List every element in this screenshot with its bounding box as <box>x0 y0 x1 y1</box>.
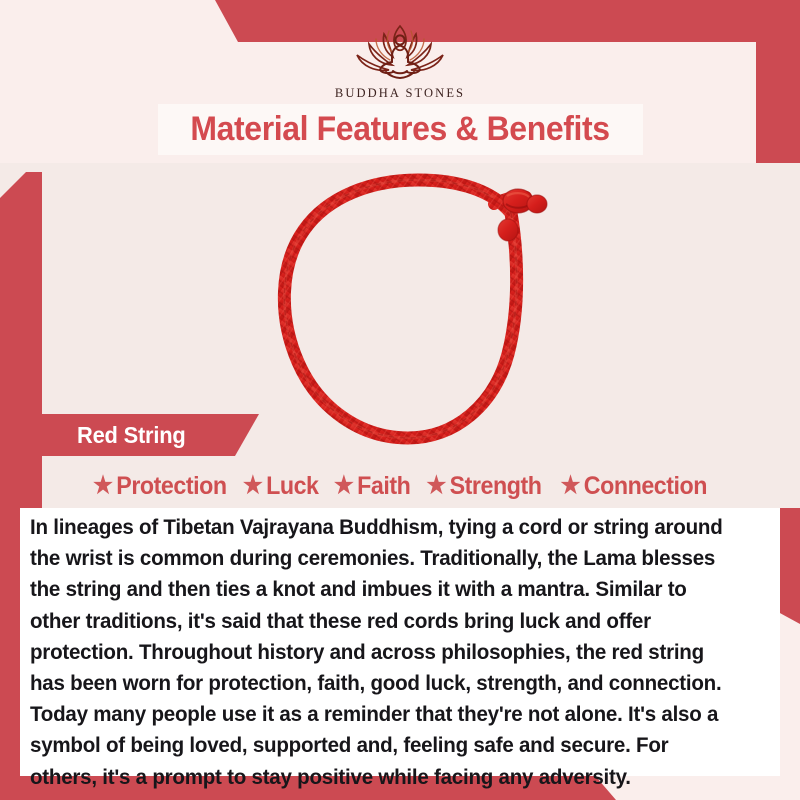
benefit-label: Strength <box>450 472 542 501</box>
brand-wordmark: BUDDHA STONES <box>335 86 465 101</box>
description-text: In lineages of Tibetan Vajrayana Buddhis… <box>30 512 738 793</box>
product-label-text: Red String <box>77 422 186 449</box>
benefit-faith: ★ Faith <box>334 472 410 501</box>
star-icon: ★ <box>243 474 263 498</box>
star-icon: ★ <box>560 474 580 498</box>
description-panel: In lineages of Tibetan Vajrayana Buddhis… <box>20 508 780 776</box>
lotus-meditation-icon <box>336 18 464 84</box>
benefit-label: Faith <box>357 472 410 501</box>
star-icon: ★ <box>93 474 113 498</box>
benefits-row: ★ Protection ★ Luck ★ Faith ★ Strength ★… <box>0 466 800 506</box>
brand-logo: BUDDHA STONES <box>0 18 800 101</box>
benefit-luck: ★ Luck <box>243 472 319 501</box>
page-title-text: Material Features & Benefits <box>191 110 610 149</box>
page-title: Material Features & Benefits <box>158 104 643 155</box>
benefit-label: Protection <box>116 472 226 501</box>
benefit-strength: ★ Strength <box>426 472 541 501</box>
product-label-banner: Red String <box>27 414 259 456</box>
benefit-label: Connection <box>584 472 707 501</box>
infographic-page: BUDDHA STONES Material Features & Benefi… <box>0 0 800 800</box>
benefit-protection: ★ Protection <box>93 472 227 501</box>
star-icon: ★ <box>426 474 446 498</box>
benefit-label: Luck <box>266 472 318 501</box>
red-braided-string-bracelet <box>268 168 568 450</box>
benefit-connection: ★ Connection <box>560 472 706 501</box>
star-icon: ★ <box>334 474 354 498</box>
